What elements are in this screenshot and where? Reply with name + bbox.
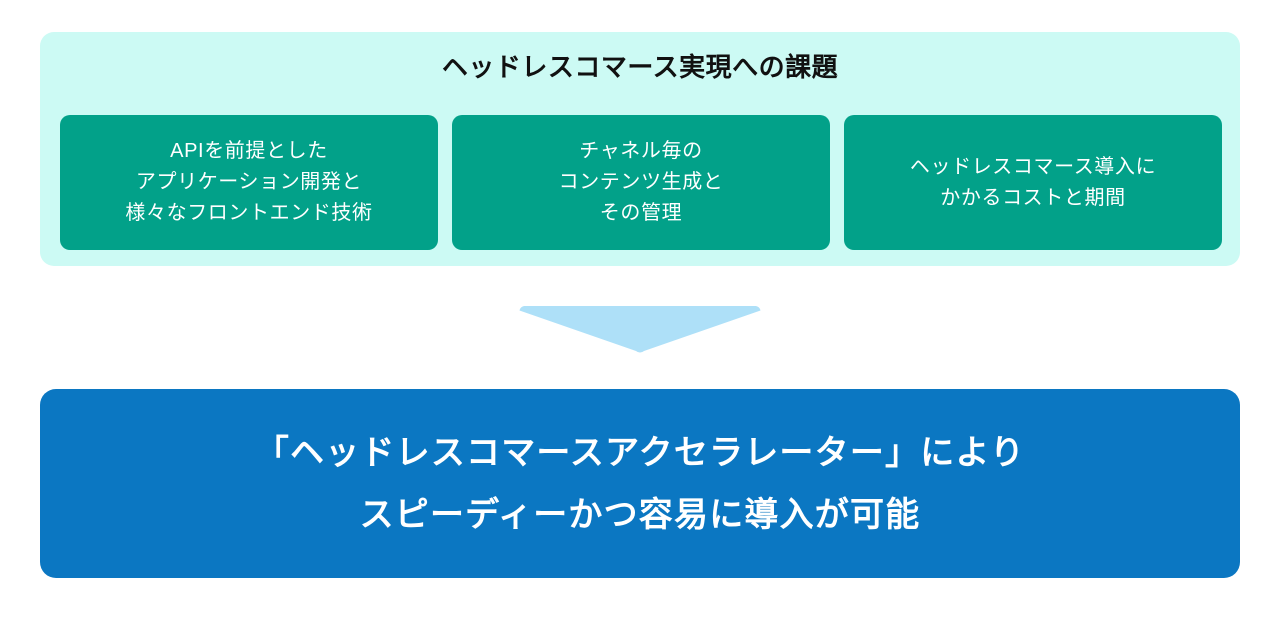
down-arrow-icon	[518, 304, 762, 354]
challenge-cards-row: APIを前提とした アプリケーション開発と 様々なフロントエンド技術 チャネル毎…	[60, 115, 1222, 250]
challenge-panel: ヘッドレスコマース実現への課題 APIを前提とした アプリケーション開発と 様々…	[40, 32, 1240, 266]
challenge-card-3-text: ヘッドレスコマース導入に かかるコストと期間	[910, 152, 1156, 214]
challenge-card-2: チャネル毎の コンテンツ生成と その管理	[452, 115, 830, 250]
diagram-canvas: ヘッドレスコマース実現への課題 APIを前提とした アプリケーション開発と 様々…	[0, 0, 1280, 620]
challenge-panel-title: ヘッドレスコマース実現への課題	[40, 50, 1240, 84]
challenge-card-1-text: APIを前提とした アプリケーション開発と 様々なフロントエンド技術	[125, 136, 372, 229]
challenge-card-1: APIを前提とした アプリケーション開発と 様々なフロントエンド技術	[60, 115, 438, 250]
challenge-card-2-text: チャネル毎の コンテンツ生成と その管理	[559, 136, 724, 229]
challenge-card-3: ヘッドレスコマース導入に かかるコストと期間	[844, 115, 1222, 250]
down-arrow-shape	[518, 304, 762, 354]
solution-banner-text: 「ヘッドレスコマースアクセラレーター」により スピーディーかつ容易に導入が可能	[255, 422, 1025, 546]
solution-banner: 「ヘッドレスコマースアクセラレーター」により スピーディーかつ容易に導入が可能	[40, 389, 1240, 578]
